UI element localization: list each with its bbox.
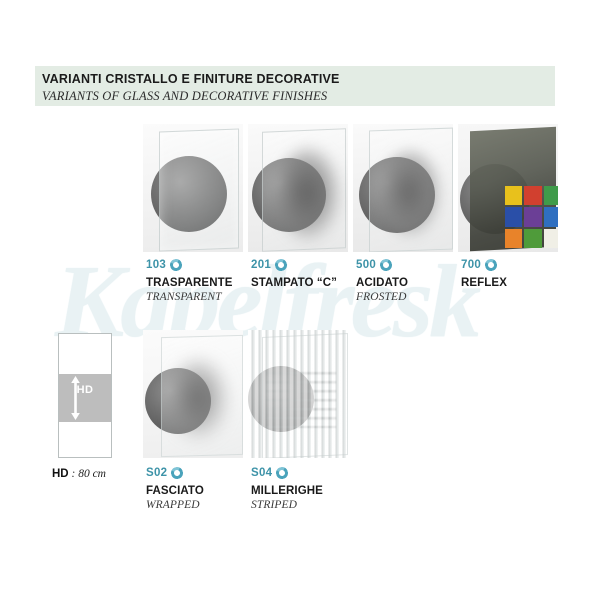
checker-swatch xyxy=(524,229,541,248)
finish-name-en: STRIPED xyxy=(251,499,323,511)
finish-image-acidato[interactable] xyxy=(353,124,453,252)
finish-caption-stampato-c[interactable]: 201 STAMPATO “C” xyxy=(251,258,337,291)
glass-pane xyxy=(262,333,348,458)
finish-name: TRASPARENTE xyxy=(146,277,233,289)
finish-code: S02 xyxy=(146,467,167,479)
ring-icon xyxy=(274,257,289,272)
finish-image-reflex[interactable] xyxy=(458,124,558,252)
code-row: 201 xyxy=(251,258,337,272)
glass-diffusion xyxy=(278,148,340,240)
ring-icon xyxy=(275,465,290,480)
finish-code: 201 xyxy=(251,259,271,271)
ring-icon xyxy=(379,257,394,272)
page-subtitle: VARIANTS OF GLASS AND DECORATIVE FINISHE… xyxy=(42,89,327,104)
finish-caption-reflex[interactable]: 700 REFLEX xyxy=(461,258,507,291)
hd-caption-value: : 80 cm xyxy=(69,468,106,480)
finish-image-stampato-c[interactable] xyxy=(248,124,348,252)
checker-swatch xyxy=(505,207,522,226)
checker-swatch xyxy=(524,207,541,226)
hd-label: HD xyxy=(59,384,111,396)
page-title: VARIANTI CRISTALLO E FINITURE DECORATIVE xyxy=(42,72,340,86)
finish-code: 700 xyxy=(461,259,481,271)
finish-name-en: TRANSPARENT xyxy=(146,291,233,303)
finish-caption-millerighe[interactable]: S04 MILLERIGHE STRIPED xyxy=(251,466,323,511)
glass-diffusion xyxy=(171,360,227,438)
finish-image-trasparente[interactable] xyxy=(143,124,243,252)
finish-image-millerighe[interactable] xyxy=(248,330,348,458)
ring-icon xyxy=(484,257,499,272)
checker-swatch xyxy=(505,229,522,248)
checker-swatch xyxy=(524,186,541,205)
color-checker xyxy=(505,186,558,248)
finish-code: S04 xyxy=(251,467,272,479)
hd-diagram: HD xyxy=(58,333,112,458)
code-row: S04 xyxy=(251,466,323,480)
ring-icon xyxy=(170,465,185,480)
checker-swatch xyxy=(544,186,558,205)
finish-name-en: WRAPPED xyxy=(146,499,204,511)
finish-image-fasciato[interactable] xyxy=(143,330,243,458)
finish-caption-fasciato[interactable]: S02 FASCIATO WRAPPED xyxy=(146,466,204,511)
finish-name: REFLEX xyxy=(461,277,507,289)
checker-swatch xyxy=(544,229,558,248)
code-row: 700 xyxy=(461,258,507,272)
hd-caption: HD : 80 cm xyxy=(52,468,106,480)
finish-name: MILLERIGHE xyxy=(251,485,323,497)
finish-code: 500 xyxy=(356,259,376,271)
finish-caption-trasparente[interactable]: 103 TRASPARENTE TRANSPARENT xyxy=(146,258,233,303)
glass-diffusion xyxy=(381,150,441,236)
finish-code: 103 xyxy=(146,259,166,271)
code-row: S02 xyxy=(146,466,204,480)
finish-name: FASCIATO xyxy=(146,485,204,497)
hd-band xyxy=(59,374,111,422)
code-row: 500 xyxy=(356,258,408,272)
glass-pane xyxy=(159,128,239,251)
ring-icon xyxy=(169,257,184,272)
finish-name-en: FROSTED xyxy=(356,291,408,303)
hd-caption-key: HD xyxy=(52,468,69,480)
finish-caption-acidato[interactable]: 500 ACIDATO FROSTED xyxy=(356,258,408,303)
finish-name: STAMPATO “C” xyxy=(251,277,337,289)
finish-name: ACIDATO xyxy=(356,277,408,289)
catalog-page: Kapelfresk VARIANTI CRISTALLO E FINITURE… xyxy=(0,0,600,600)
checker-swatch xyxy=(505,186,522,205)
code-row: 103 xyxy=(146,258,233,272)
hd-dimension-arrow xyxy=(71,376,80,420)
checker-swatch xyxy=(544,207,558,226)
